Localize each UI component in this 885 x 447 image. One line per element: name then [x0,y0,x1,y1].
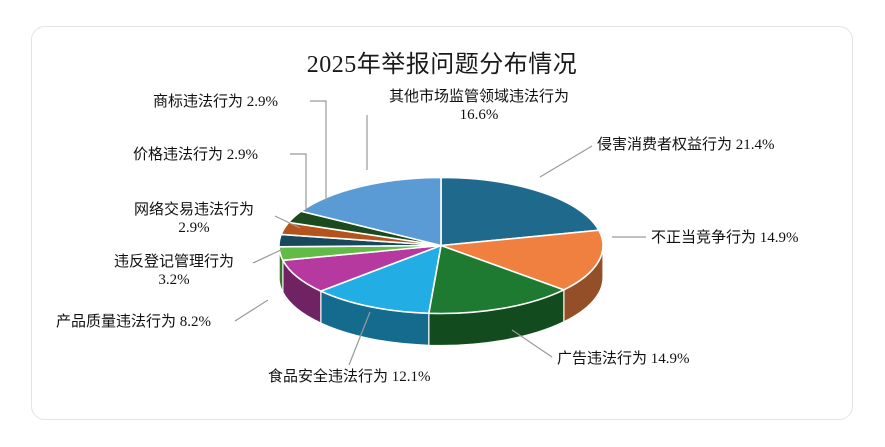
label-other: 其他市场监管领域违法行为 16.6% [372,88,586,125]
label-unfair-competition: 不正当竞争行为 14.9% [651,229,799,247]
label-registration-text: 违反登记管理行为 [114,254,234,270]
label-online-transaction-text: 网络交易违法行为 [134,202,254,218]
label-other-value: 16.6% [460,107,499,123]
label-price: 价格违法行为 2.9% [133,146,258,164]
chart-title: 2025年举报问题分布情况 [32,44,852,79]
label-online-transaction-value: 2.9% [178,220,209,236]
label-trademark: 商标违法行为 2.9% [153,93,278,111]
label-registration: 违反登记管理行为 3.2% [99,253,249,290]
label-registration-value: 3.2% [158,272,189,288]
label-advertising: 广告违法行为 14.9% [557,350,690,368]
label-consumer-rights: 侵害消费者权益行为 21.4% [597,136,775,154]
label-online-transaction: 网络交易违法行为 2.9% [118,201,270,238]
label-product-quality: 产品质量违法行为 8.2% [56,313,211,331]
label-other-text: 其他市场监管领域违法行为 [389,89,569,105]
label-food-safety: 食品安全违法行为 12.1% [268,368,431,386]
